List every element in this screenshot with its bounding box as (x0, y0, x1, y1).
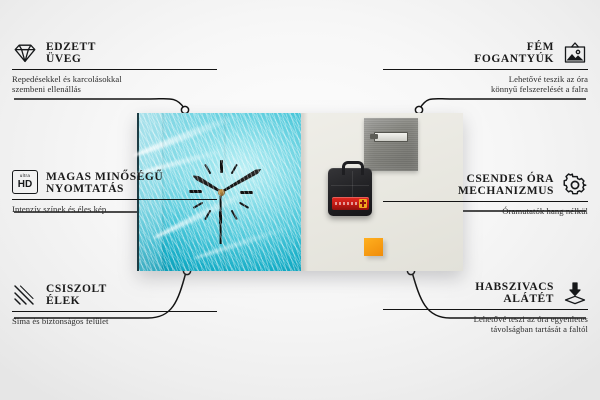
feature-foam-pad: HABSZIVACSALÁTÉT Lehetővé teszi az óra e… (383, 280, 588, 335)
feature-silent-mechanism: CSENDES ÓRAMECHANIZMUS Óramutatók hang n… (383, 172, 588, 216)
mechanism-seam-vertical (352, 171, 353, 197)
foam-pad (364, 238, 383, 256)
feature-metal-handles: FÉMFOGANTYÚK Lehetővé teszik az órakönny… (383, 40, 588, 95)
polished-edges-icon (12, 282, 38, 308)
feature-polished-edges: CSISZOLTÉLEK Sima és biztonságos felület (12, 282, 217, 326)
feature-subtitle: Sima és biztonságos felület (12, 312, 217, 326)
gear-icon (562, 172, 588, 198)
foam-pad-icon (562, 280, 588, 306)
battery (332, 197, 369, 210)
mechanism-hanging-loop (342, 161, 364, 175)
feature-title: HABSZIVACSALÁTÉT (475, 281, 554, 306)
feature-subtitle: Lehetővé teszi az óra egyenletestávolság… (383, 310, 588, 335)
mechanism-seam (331, 185, 369, 186)
feature-subtitle: Repedésekkel és karcolásokkalszembeni el… (12, 70, 217, 95)
feature-title: EDZETTÜVEG (46, 41, 96, 66)
feature-tempered-glass: EDZETTÜVEG Repedésekkel és karcolásokkal… (12, 40, 217, 95)
clock-second-hand (220, 192, 222, 244)
diamond-icon (12, 40, 38, 66)
battery-plus-terminal (359, 199, 367, 208)
connector-tempered-glass (14, 99, 184, 108)
feature-title: MAGAS MINŐSÉGŰNYOMTATÁS (46, 171, 163, 196)
quartz-mechanism (328, 168, 372, 216)
feature-high-quality-print: ultra HD MAGAS MINŐSÉGŰNYOMTATÁS Intenzí… (12, 170, 217, 214)
feature-title: CSENDES ÓRAMECHANIZMUS (458, 173, 554, 198)
picture-hanger-icon (562, 40, 588, 66)
hanger-slot (374, 132, 408, 142)
feature-subtitle: Intenzív színek és éles kép (12, 200, 217, 214)
clock-center-cap (218, 189, 225, 196)
feature-title: FÉMFOGANTYÚK (474, 41, 554, 66)
connector-metal-handles (420, 99, 586, 108)
clock-minute-hand (220, 167, 262, 194)
infographic-canvas: EDZETTÜVEG Repedésekkel és karcolásokkal… (0, 0, 600, 400)
feature-subtitle: Lehetővé teszik az órakönnyű felszerelés… (383, 70, 588, 95)
feature-subtitle: Óramutatók hang nélkül (383, 202, 588, 216)
metal-hanger-plate (364, 118, 418, 171)
ultra-hd-icon: ultra HD (12, 170, 38, 196)
feature-title: CSISZOLTÉLEK (46, 283, 107, 308)
